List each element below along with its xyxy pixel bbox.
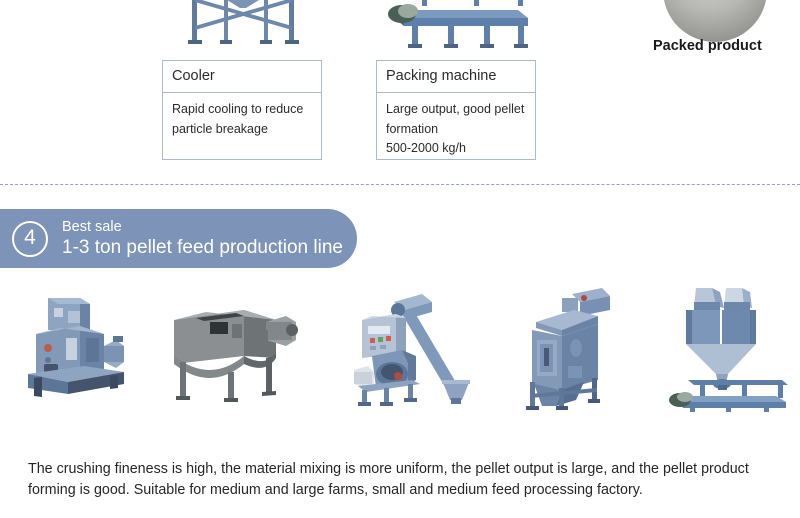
packing-conveyor-image xyxy=(378,0,538,52)
info-box-title: Packing machine xyxy=(377,61,535,93)
section-number-badge: 4 xyxy=(12,221,48,257)
page-root: Cooler Rapid cooling to reduce particle … xyxy=(0,0,800,518)
cooler-machine-image-2 xyxy=(518,286,614,410)
section-description: The crushing fineness is high, the mater… xyxy=(28,459,770,502)
packing-machine-image xyxy=(664,284,794,412)
banner-title: 1-3 ton pellet feed production line xyxy=(62,236,343,260)
info-box-body: Large output, good pellet formation 500-… xyxy=(377,93,535,164)
info-box-cooler: Cooler Rapid cooling to reduce particle … xyxy=(162,60,322,160)
section-banner-text: Best sale 1-3 ton pellet feed production… xyxy=(62,218,343,260)
banner-subtitle: Best sale xyxy=(62,218,343,236)
packed-product-label: Packed product xyxy=(653,38,762,54)
section-banner: 4 Best sale 1-3 ton pellet feed producti… xyxy=(0,209,357,268)
section-divider xyxy=(0,184,800,185)
info-box-title: Cooler xyxy=(163,61,321,93)
info-box-packing-machine: Packing machine Large output, good pelle… xyxy=(376,60,536,160)
cooler-machine-image xyxy=(168,0,318,48)
production-line-diagram: Hammer mill Screw paddle mixer Ring die … xyxy=(0,280,800,420)
previous-section-remnant: Cooler Rapid cooling to reduce particle … xyxy=(0,0,800,185)
ring-die-pellet-mill-image xyxy=(350,288,472,408)
info-box-body: Rapid cooling to reduce particle breakag… xyxy=(163,93,321,145)
screw-paddle-mixer-image xyxy=(166,302,298,402)
hammer-mill-image xyxy=(18,294,130,402)
